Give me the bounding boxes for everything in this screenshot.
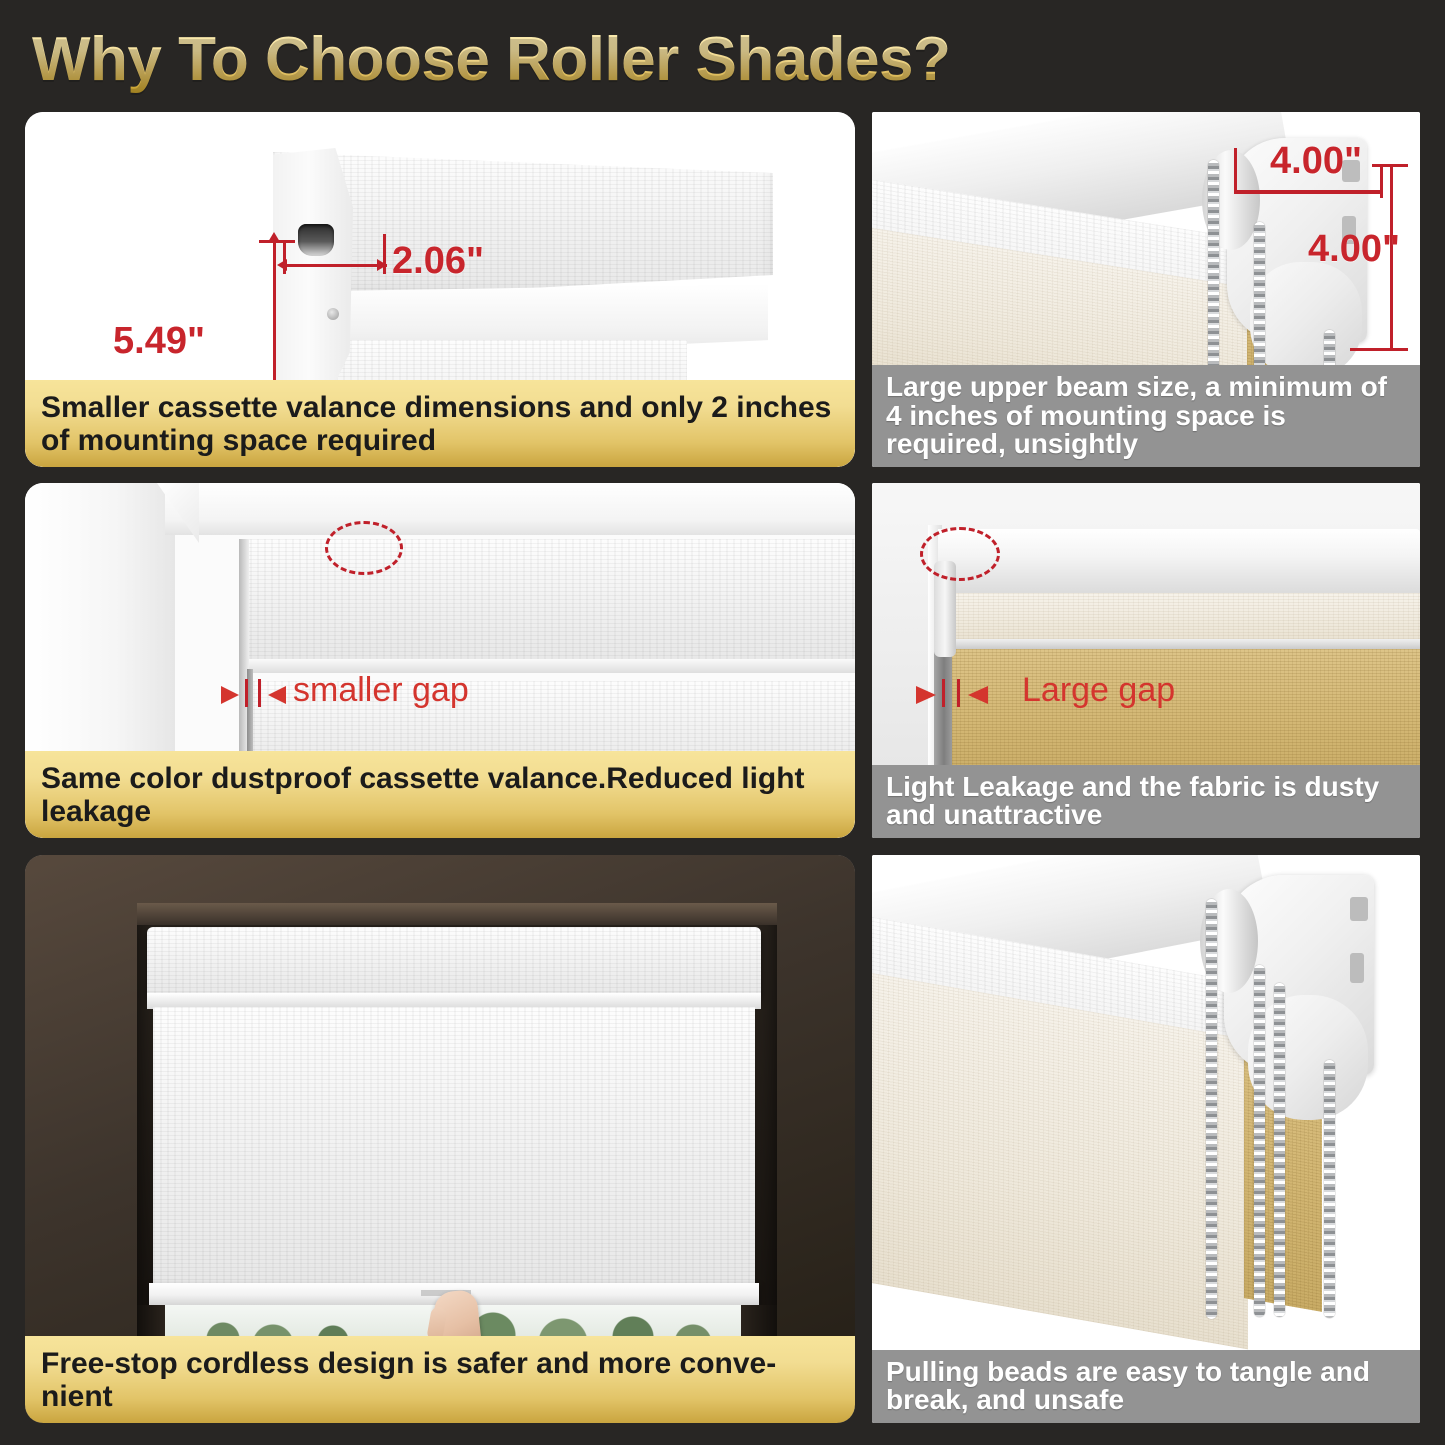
gap-label: smaller gap <box>293 671 469 710</box>
bead-chain-2 <box>1254 965 1265 1317</box>
panel-pulling-beads: Pulling beads are easy to tangle and bre… <box>872 855 1420 1423</box>
panel-cassette-dimensions: 2.06" 5.49" Smaller cassette valance dim… <box>25 112 855 467</box>
width-ext-right <box>383 234 386 274</box>
panel-light-leakage: Large gap Light Leakage and the fabric i… <box>872 483 1420 838</box>
beam-width-ext-left <box>1234 148 1237 194</box>
shade-fabric <box>153 1007 755 1289</box>
beam-width-ext-right <box>1380 166 1383 198</box>
bead-chain-3 <box>1274 983 1285 1317</box>
highlight-circle <box>325 521 403 575</box>
width-dimension-label: 2.06" <box>392 240 484 283</box>
gap-tick-right <box>258 679 261 707</box>
height-dimension-label: 5.49" <box>113 320 205 363</box>
panel-cordless-design: Free-stop cordless design is safer and m… <box>25 855 855 1423</box>
bracket-screw-upper <box>327 308 339 320</box>
gap-arrow-pointing-left <box>268 686 286 704</box>
bracket-slot <box>298 224 334 256</box>
gap-arrow-pointing-left <box>968 686 988 704</box>
panel-caption: Large upper beam size, a minimum of 4 in… <box>872 365 1420 467</box>
cream-band <box>948 593 1420 645</box>
page-title: Why To Choose Roller Shades? <box>32 24 950 95</box>
panel-caption: Light Leakage and the fabric is dusty an… <box>872 765 1420 838</box>
beam-width-bar <box>1234 190 1382 194</box>
bracket-lower-lobe <box>1248 995 1368 1120</box>
pulling-beads-photo <box>872 855 1420 1423</box>
title-bar: Why To Choose Roller Shades? <box>0 0 1445 105</box>
highlight-circle <box>920 527 1000 581</box>
headrail-bottom-edge <box>942 639 1420 649</box>
height-ext-top <box>259 240 295 243</box>
bracket-mount-tab-lower <box>1350 953 1364 983</box>
beam-width-label: 4.00" <box>1270 140 1362 183</box>
bracket-mount-tab-upper <box>1350 897 1368 921</box>
panel-caption: Smaller cassette valance dimensions and … <box>25 380 855 467</box>
cassette-valance <box>147 927 761 999</box>
window-frame-left <box>25 483 175 783</box>
tan-fabric <box>952 649 1420 783</box>
panel-caption: Pulling beads are easy to tangle and bre… <box>872 1350 1420 1423</box>
panel-caption: Same color dustproof cassette valance.Re… <box>25 751 855 838</box>
panel-dustproof-valance: smaller gap Same color dustproof cassett… <box>25 483 855 838</box>
gap-tick-left <box>942 679 945 707</box>
width-dimension-bar <box>285 264 387 267</box>
bracket-lower-lobe <box>1250 262 1362 377</box>
gap-arrow-pointing-right <box>916 686 936 704</box>
window-recess-top-ledge <box>137 903 777 925</box>
gap-label: Large gap <box>1022 671 1175 710</box>
panel-large-beam: 4.00" 4.00" Large upper beam size, a min… <box>872 112 1420 467</box>
bead-chain-1 <box>1206 899 1217 1319</box>
bead-chain-4 <box>1324 1060 1335 1318</box>
width-ext-left <box>283 240 286 274</box>
beam-height-label: 4.00" <box>1308 228 1400 271</box>
gap-arrow-pointing-right <box>221 686 239 704</box>
window-frame-top <box>165 483 855 535</box>
gap-tick-left <box>245 679 248 707</box>
beam-height-ext-top <box>1372 164 1408 167</box>
upper-headrail <box>938 529 1420 597</box>
gap-tick-right <box>957 679 960 707</box>
beam-height-ext-bottom <box>1350 348 1408 351</box>
panel-caption: Free-stop cordless design is safer and m… <box>25 1336 855 1423</box>
